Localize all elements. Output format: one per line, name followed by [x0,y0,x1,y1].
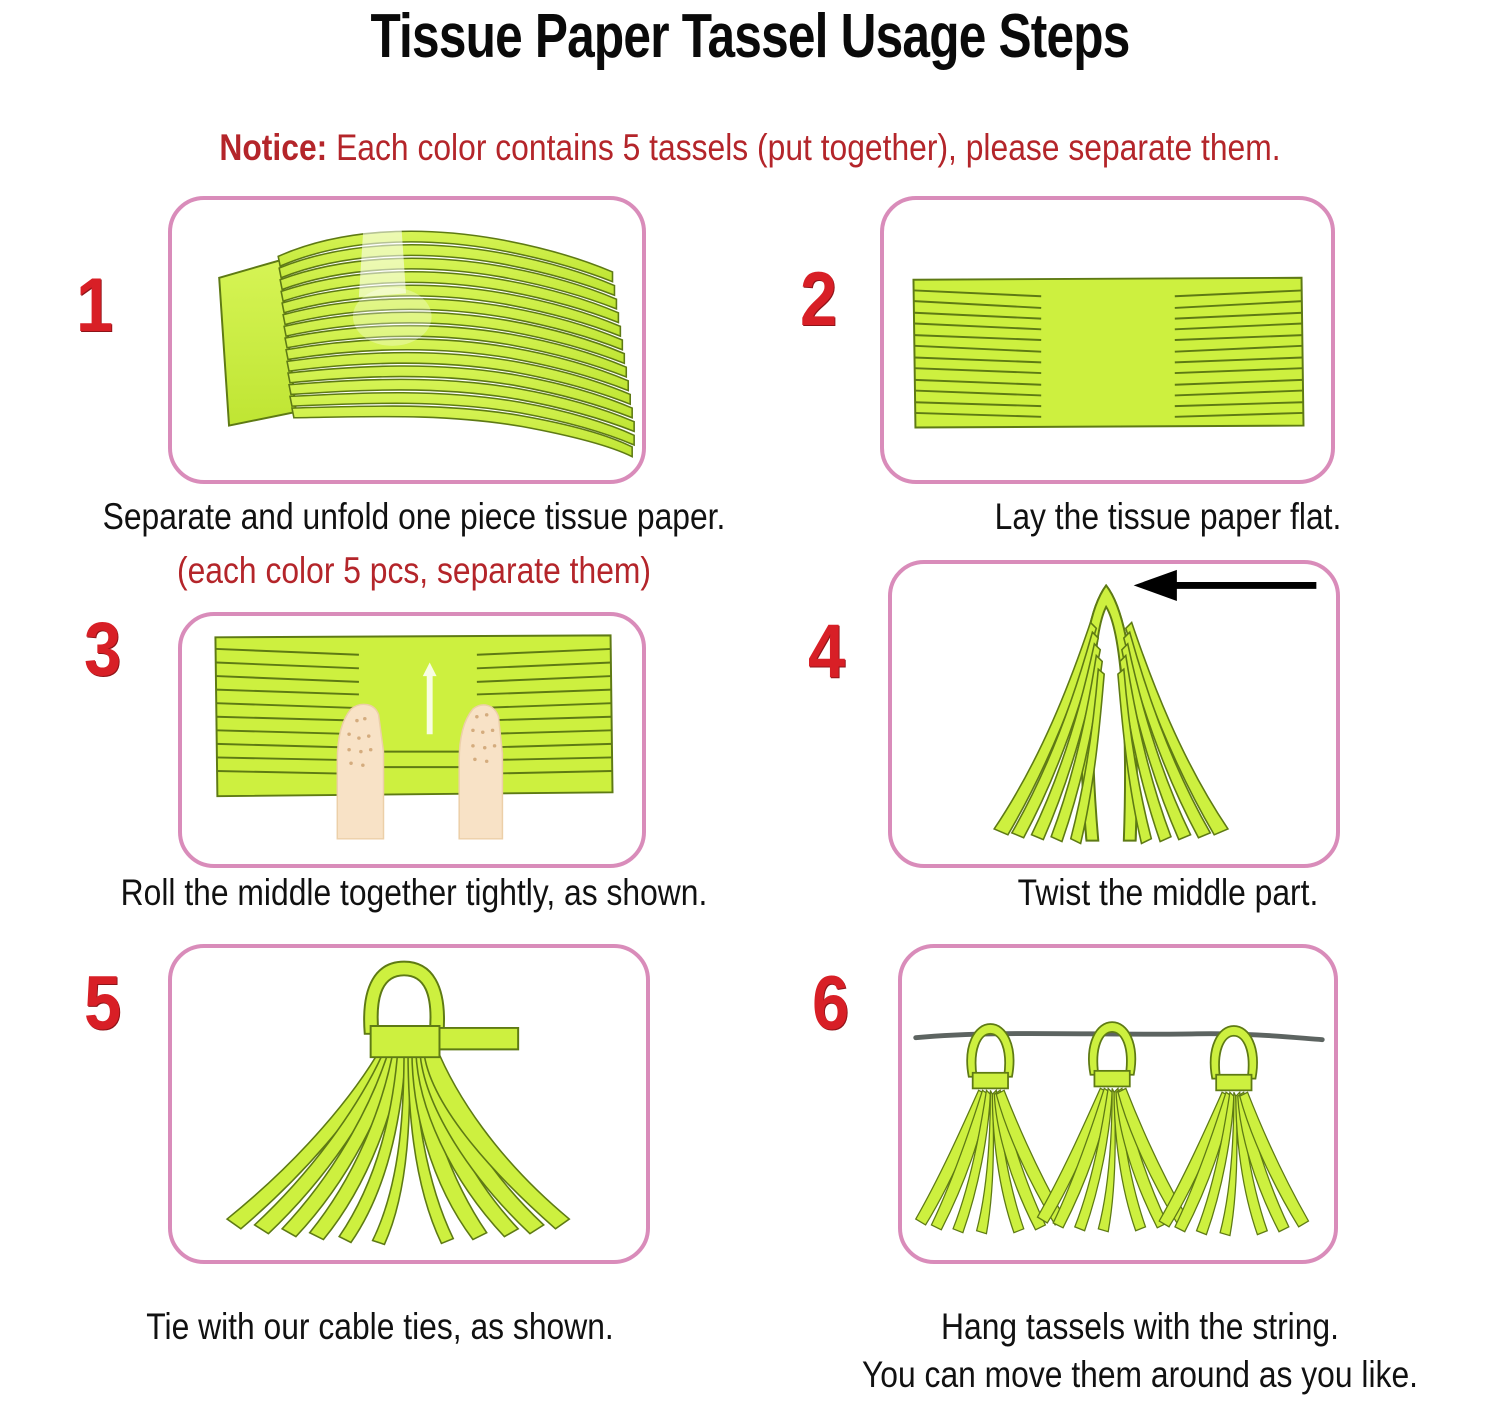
cable-tie-tail [439,1028,518,1049]
hanging-tassel-1 [916,1024,1065,1234]
step-caption-5: Tie with our cable ties, as shown. [53,1304,707,1350]
step-number-1: 1 [76,268,113,344]
step-number-5: 5 [84,966,121,1042]
step-panel-5 [168,944,650,1264]
step-panel-2 [880,196,1335,484]
step-caption-1-sub: (each color 5 pcs, separate them) [58,548,770,594]
three-tassels-hanging-illustration [902,948,1334,1260]
finished-tassel-with-cable-tie-illustration [172,948,646,1260]
step-panel-4 [888,560,1340,868]
folded-tassel-with-loop-illustration [892,564,1336,864]
step-caption-2: Lay the tissue paper flat. [882,494,1453,540]
right-hand-icon [459,705,502,839]
step-panel-1 [168,196,646,484]
step-number-3: 3 [84,612,121,688]
step-caption-4: Twist the middle part. [882,870,1453,916]
folded-fringed-tissue-stack-illustration [172,200,642,480]
left-hand-icon [337,704,383,838]
notice-body-text: Each color contains 5 tassels (put toget… [327,127,1280,168]
step-caption-1: Separate and unfold one piece tissue pap… [58,494,770,540]
pointer-arrow-icon [1134,570,1317,601]
notice-lead-label: Notice: [219,127,327,168]
cable-tie-band [371,1026,440,1057]
hands-rolling-middle-illustration [182,616,642,864]
page-title: Tissue Paper Tassel Usage Steps [150,2,1350,72]
step-number-6: 6 [812,966,849,1042]
notice-line: Notice: Each color contains 5 tassels (p… [105,126,1395,170]
hanging-tassel-2 [1037,1022,1186,1232]
step-number-2: 2 [800,262,837,338]
flat-fringed-tissue-sheet-illustration [884,200,1331,480]
step-panel-3 [178,612,646,868]
step-panel-6 [898,944,1338,1264]
step-caption-6-sub: You can move them around as you like. [830,1352,1449,1398]
step-caption-6: Hang tassels with the string. [830,1304,1449,1350]
hanging-tassel-3 [1159,1026,1308,1236]
step-number-4: 4 [808,614,845,690]
step-caption-3: Roll the middle together tightly, as sho… [58,870,770,916]
